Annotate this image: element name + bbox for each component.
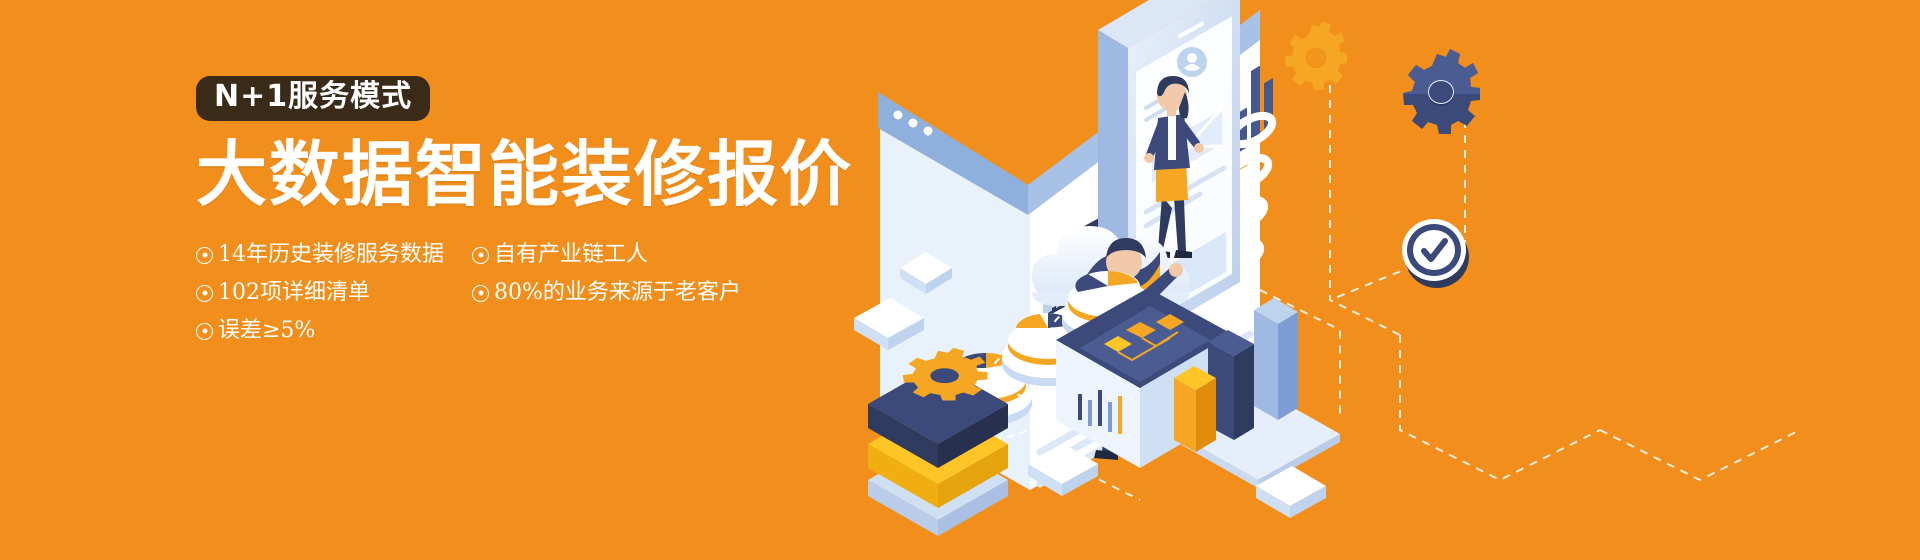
list-item: 80%的业务来源于老客户 [472,274,772,312]
list-item: 误差≥5% [196,312,454,350]
promo-banner: N+1服务模式 大数据智能装修报价 14年历史装修服务数据 102项详细清单 误… [0,0,1920,560]
bullet-column-right: 自有产业链工人 80%的业务来源于老客户 [472,236,772,350]
list-item-label: 14年历史装修服务数据 [218,244,444,266]
circled-dot-icon [196,323,213,340]
list-item-label: 自有产业链工人 [494,244,648,266]
feature-bullet-list: 14年历史装修服务数据 102项详细清单 误差≥5% 自有产业链工人 [196,236,896,350]
check-badge-icon [1402,219,1469,288]
circled-dot-icon [196,247,213,264]
circled-dot-icon [472,285,489,302]
service-mode-badge: N+1服务模式 [196,76,430,121]
list-item: 14年历史装修服务数据 [196,236,454,274]
list-item-label: 80%的业务来源于老客户 [494,282,741,304]
circled-dot-icon [472,247,489,264]
bullet-column-spacer [472,312,772,350]
list-item: 自有产业链工人 [472,236,772,274]
bullet-column-left: 14年历史装修服务数据 102项详细清单 误差≥5% [196,236,454,350]
copy-block: N+1服务模式 大数据智能装修报价 14年历史装修服务数据 102项详细清单 误… [196,76,896,350]
circled-dot-icon [196,285,213,302]
list-item-label: 误差≥5% [218,320,315,342]
list-item: 102项详细清单 [196,274,454,312]
page-title: 大数据智能装修报价 [196,139,896,210]
illustration-big-data-scene [840,0,1920,560]
list-item-label: 102项详细清单 [218,282,370,304]
gear-navy-icon [1403,49,1480,134]
gear-yellow-icon [1285,21,1347,90]
